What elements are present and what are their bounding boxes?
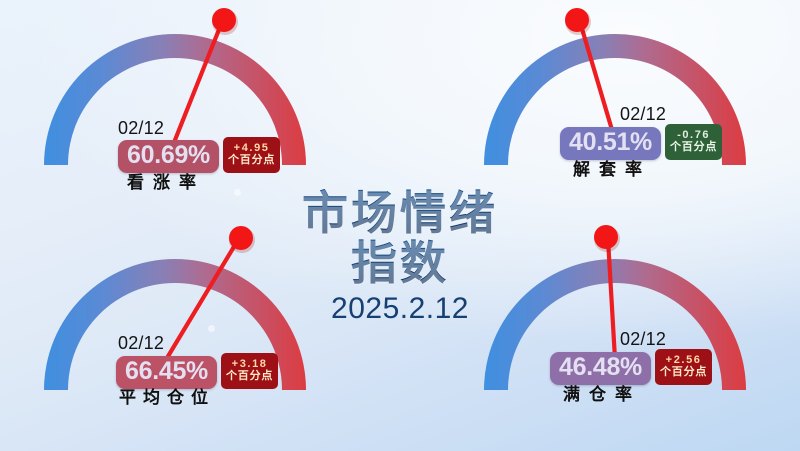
page-title-line1: 市场情绪 (0, 188, 800, 238)
gauge-date-2: 02/12 (620, 104, 666, 125)
gauge-delta-unit-1: 个百分点 (228, 155, 275, 166)
center-title-block: 市场情绪 指数 2025.2.12 (0, 188, 800, 326)
gauge-date-3: 02/12 (118, 333, 164, 354)
page-subtitle-date: 2025.2.12 (0, 292, 800, 326)
infographic-canvas: 02/12 60.69% +4.95 个百分点 看涨率 (0, 0, 800, 451)
gauge-label-2: 解套率 (564, 155, 651, 180)
gauge-delta-value-4: +2.56 (666, 355, 702, 366)
gauge-label-4: 满仓率 (554, 380, 641, 405)
gauge-delta-badge-1: +4.95 个百分点 (223, 137, 280, 173)
gauge-delta-badge-3: +3.18 个百分点 (221, 353, 278, 389)
gauge-date-4: 02/12 (620, 329, 666, 350)
gauge-delta-badge-4: +2.56 个百分点 (655, 349, 712, 385)
gauge-delta-value-1: +4.95 (234, 143, 270, 154)
gauge-label-3: 平均仓位 (112, 383, 215, 408)
gauge-delta-value-3: +3.18 (232, 359, 268, 370)
gauge-delta-badge-2: -0.76 个百分点 (665, 124, 722, 160)
gauge-delta-unit-4: 个百分点 (660, 367, 707, 378)
gauge-delta-unit-3: 个百分点 (226, 371, 273, 382)
gauge-date-1: 02/12 (118, 118, 164, 139)
gauge-delta-value-2: -0.76 (677, 130, 710, 141)
page-title-line2: 指数 (0, 238, 800, 288)
gauge-delta-unit-2: 个百分点 (670, 142, 717, 153)
